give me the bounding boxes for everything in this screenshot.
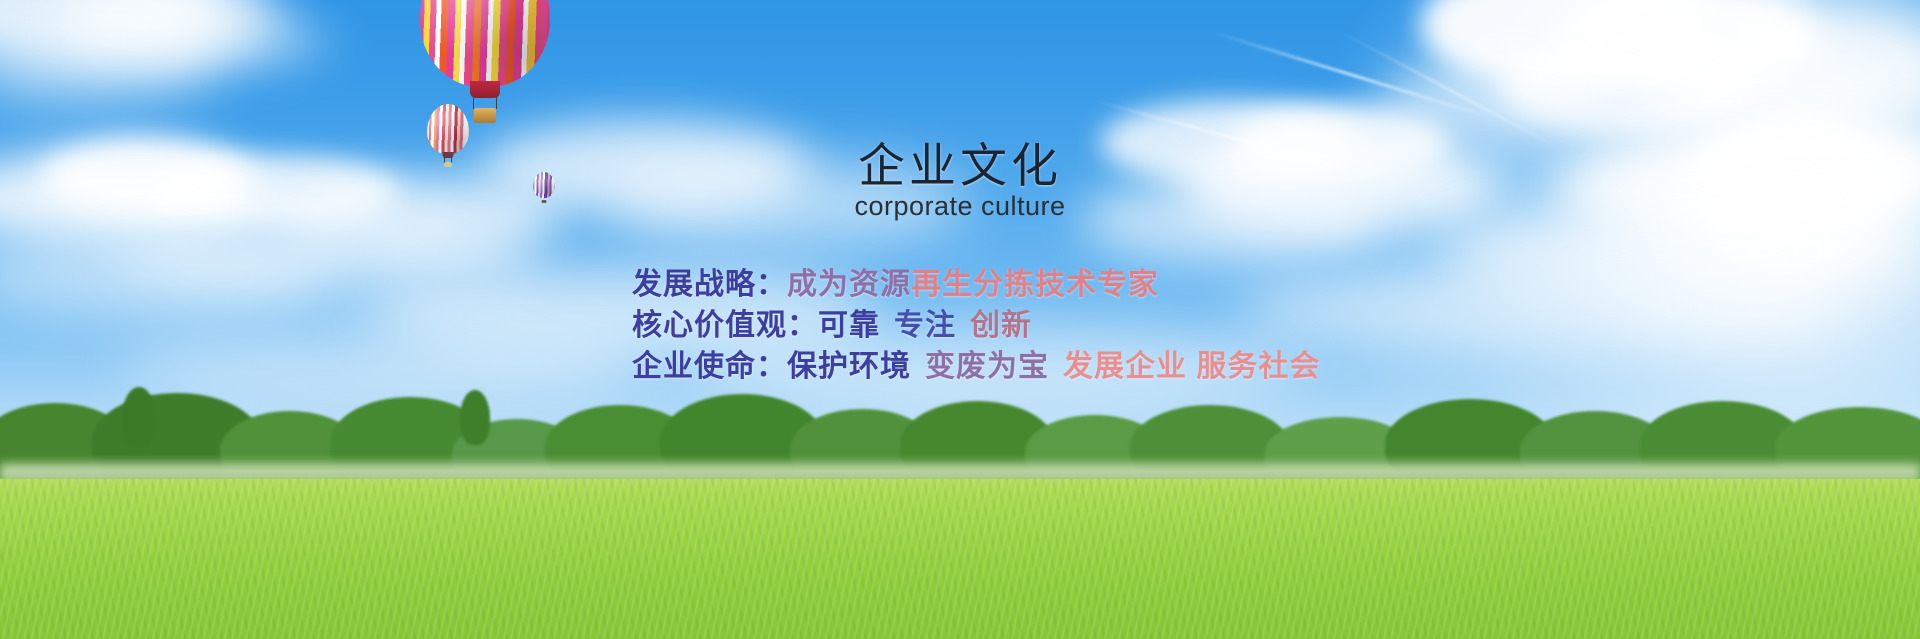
- statement-corporate-mission: 企业使命：保护环境变废为宝发展企业 服务社会: [632, 346, 1732, 387]
- balloon-neck: [470, 81, 500, 98]
- balloon-basket-icon: [444, 162, 452, 167]
- cloud: [1080, 175, 1380, 265]
- tree: [460, 390, 490, 445]
- tree: [122, 387, 156, 449]
- statement-list: 发展战略：成为资源再生分拣技术专家 核心价值观：可靠专注创新 企业使命：保护环境…: [632, 264, 1732, 387]
- corporate-culture-banner: 企业文化 corporate culture 发展战略：成为资源再生分拣技术专家…: [0, 0, 1920, 639]
- cloud: [610, 160, 970, 245]
- balloon-envelope-icon: [420, 0, 550, 87]
- statement-development-strategy: 发展战略：成为资源再生分拣技术专家: [632, 264, 1732, 305]
- statement-segment: 成为资源: [787, 268, 911, 301]
- grass-texture: [0, 479, 1920, 639]
- statement-segment: 核心价值观：可靠: [632, 309, 880, 342]
- medium-hot-air-balloon: [427, 104, 469, 166]
- statement-segment: 发展企业 服务社会: [1063, 350, 1320, 383]
- cloud: [150, 10, 330, 70]
- small-hot-air-balloon: [533, 172, 555, 204]
- balloon-basket-icon: [542, 200, 547, 203]
- balloon-envelope-icon: [427, 104, 469, 154]
- statement-segment: 发展战略：: [632, 268, 787, 301]
- cloud: [1380, 60, 1600, 140]
- statement-segment: 企业使命：保护环境: [632, 350, 911, 383]
- statement-segment: 创新: [970, 309, 1032, 342]
- statement-segment: 再生分拣技术专家: [911, 268, 1159, 301]
- balloon-envelope-icon: [533, 172, 555, 198]
- statement-core-values: 核心价值观：可靠专注创新: [632, 305, 1732, 346]
- statement-segment: 专注: [894, 309, 956, 342]
- statement-segment: 变废为宝: [925, 350, 1049, 383]
- balloon-basket-icon: [474, 108, 496, 123]
